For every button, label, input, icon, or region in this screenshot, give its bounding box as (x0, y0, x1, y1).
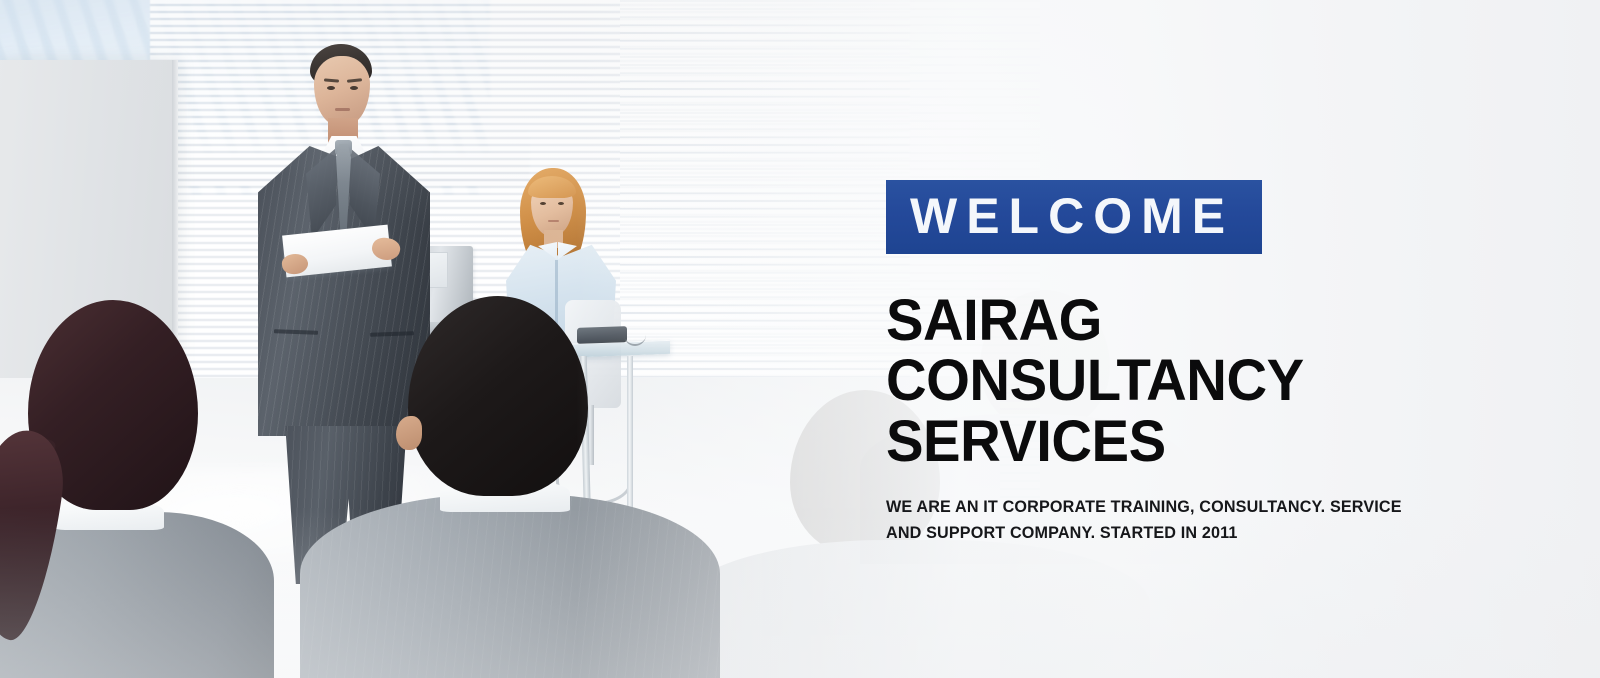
hero-banner: WELCOME SAIRAG CONSULTANCY SERVICES WE A… (0, 0, 1600, 678)
welcome-badge: WELCOME (886, 180, 1262, 254)
hero-subheadline: WE ARE AN IT CORPORATE TRAINING, CONSULT… (886, 494, 1441, 546)
hero-content: WELCOME SAIRAG CONSULTANCY SERVICES WE A… (886, 180, 1486, 546)
hero-headline: SAIRAG CONSULTANCY SERVICES (886, 291, 1444, 472)
